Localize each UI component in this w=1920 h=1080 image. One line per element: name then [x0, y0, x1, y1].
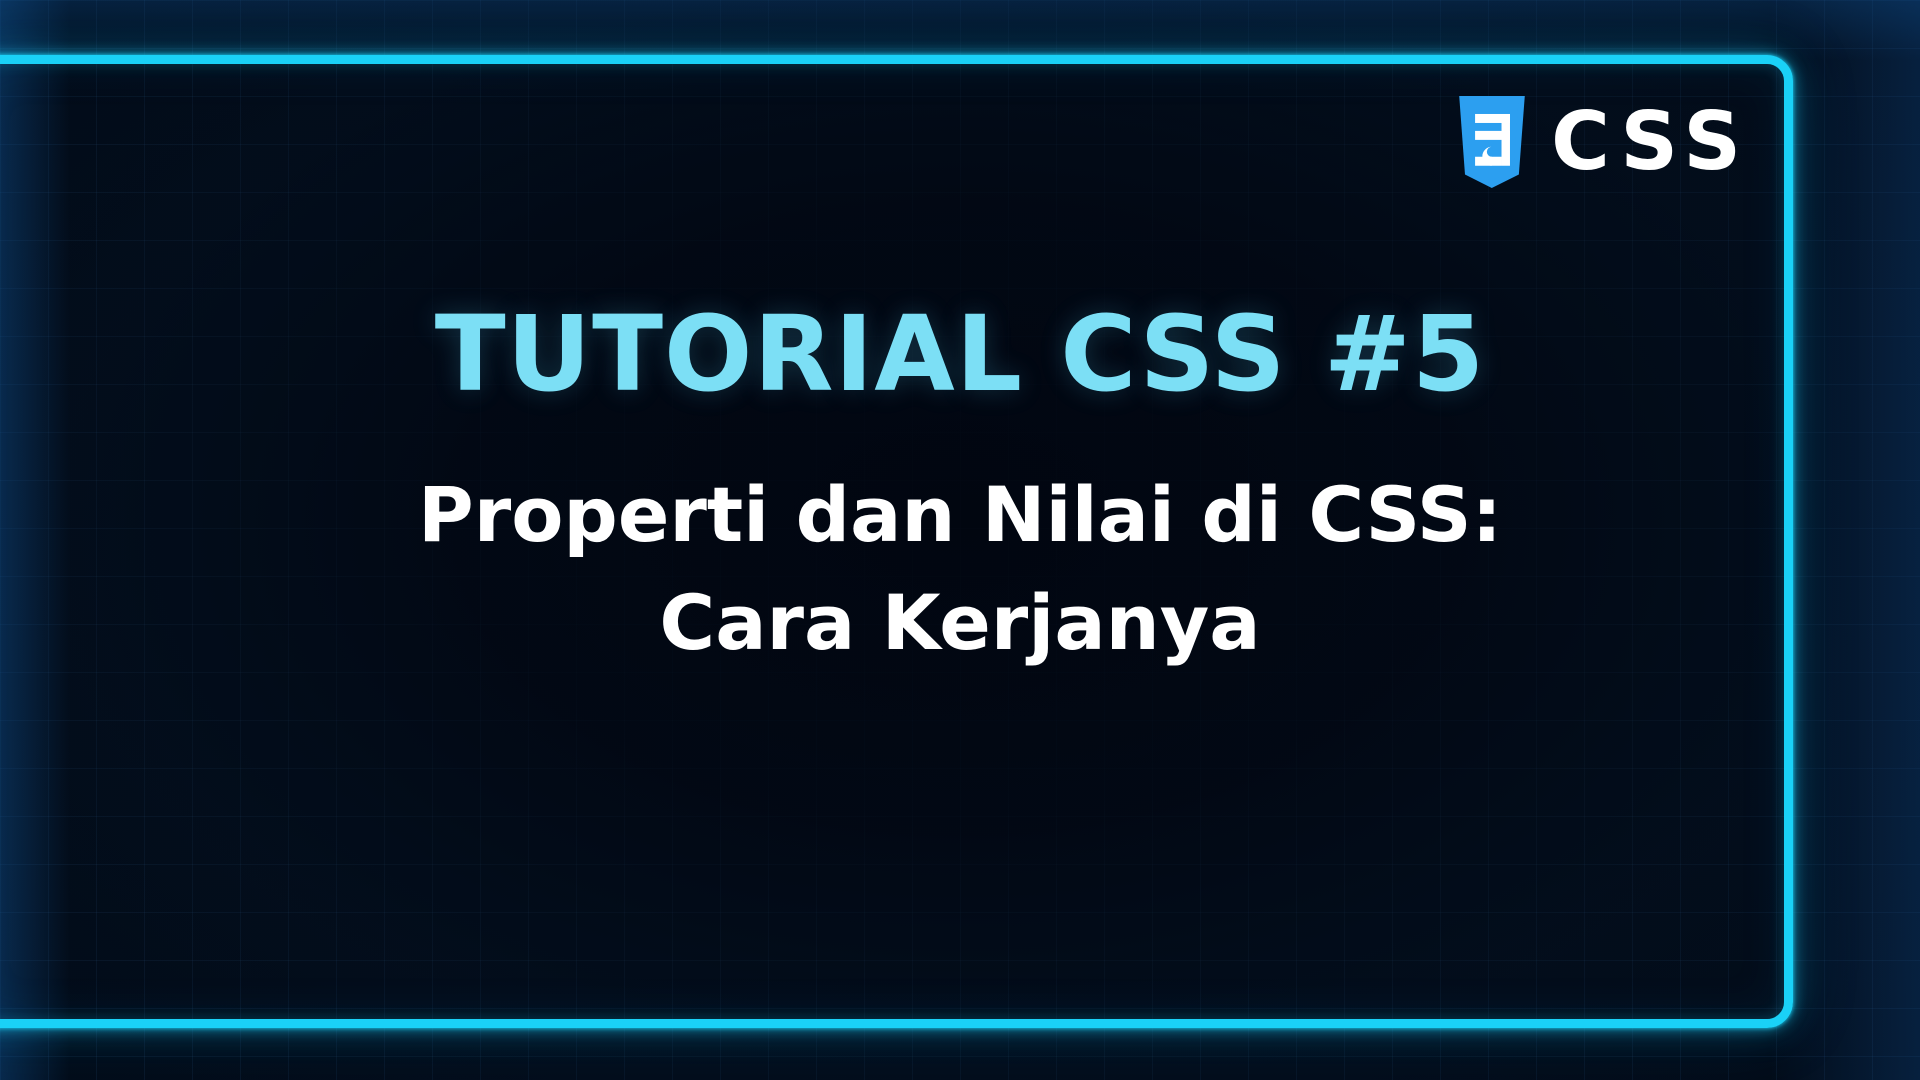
css-wordmark: CSS	[1551, 105, 1750, 179]
subtitle-line-two: Cara Kerjanya	[0, 569, 1920, 677]
css3-logo-lockup: CSS	[1459, 96, 1750, 188]
subtitle-line-one: Properti dan Nilai di CSS:	[0, 461, 1920, 569]
tutorial-slide: CSS TUTORIAL CSS #5 Properti dan Nilai d…	[0, 0, 1920, 1080]
css3-shield-icon	[1459, 96, 1525, 188]
page-title: TUTORIAL CSS #5	[0, 300, 1920, 409]
title-block: TUTORIAL CSS #5 Properti dan Nilai di CS…	[0, 300, 1920, 677]
